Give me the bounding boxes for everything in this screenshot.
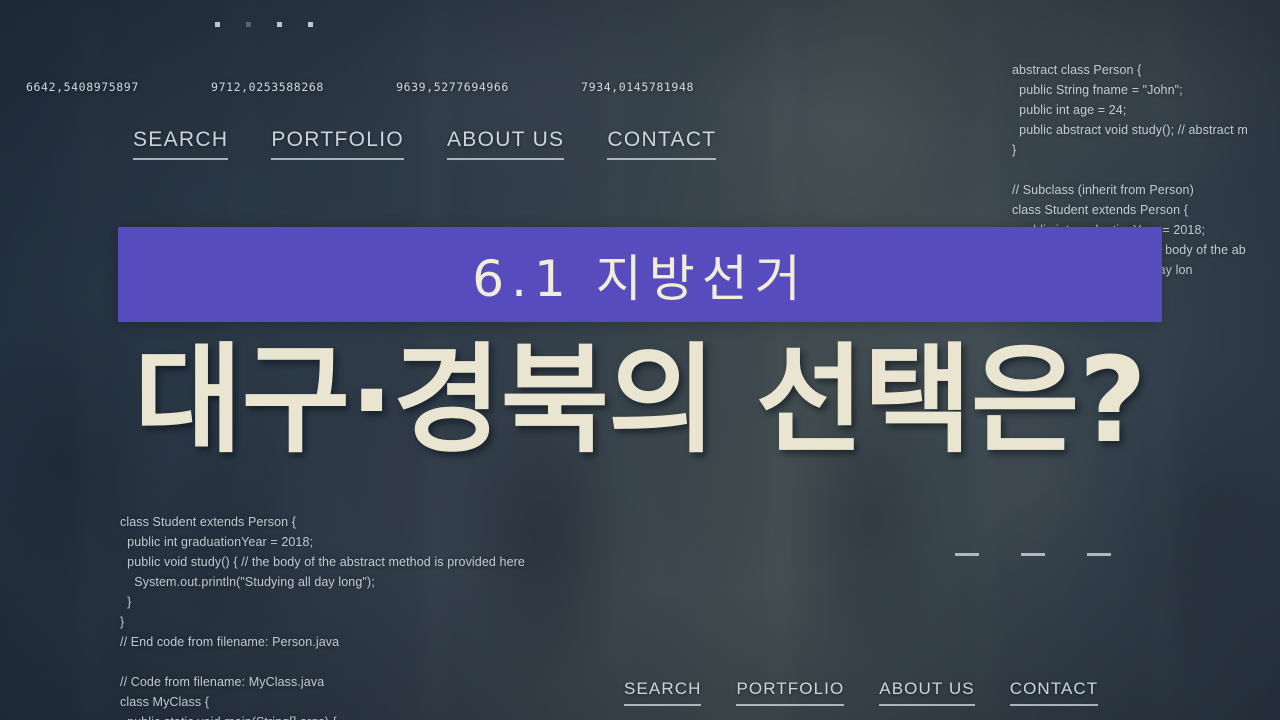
navigation-bar-top: SEARCH PORTFOLIO ABOUT US CONTACT bbox=[133, 128, 716, 160]
dot-indicator bbox=[215, 22, 220, 27]
ticker-value: 9712,0253588268 bbox=[211, 80, 324, 94]
navigation-bar-bottom: SEARCH PORTFOLIO ABOUT US CONTACT bbox=[624, 679, 1098, 706]
dash-marker bbox=[1087, 553, 1111, 556]
nav-item-contact[interactable]: CONTACT bbox=[1010, 679, 1099, 706]
numeric-ticker-row: 6642,5408975897 9712,0253588268 9639,527… bbox=[0, 80, 720, 94]
dash-marker bbox=[1021, 553, 1045, 556]
title-banner: 6.1 지방선거 bbox=[118, 227, 1162, 322]
nav-item-about-us[interactable]: ABOUT US bbox=[879, 679, 974, 706]
nav-item-search[interactable]: SEARCH bbox=[133, 128, 228, 160]
ticker-value: 6642,5408975897 bbox=[26, 80, 139, 94]
nav-item-portfolio[interactable]: PORTFOLIO bbox=[736, 679, 844, 706]
decorative-dashes-row bbox=[955, 553, 1111, 556]
dot-indicator bbox=[246, 22, 251, 27]
nav-item-search[interactable]: SEARCH bbox=[624, 679, 701, 706]
code-overlay-bottom-left: class Student extends Person { public in… bbox=[120, 512, 525, 720]
ticker-value: 9639,5277694966 bbox=[396, 80, 509, 94]
ticker-value: 7934,0145781948 bbox=[581, 80, 694, 94]
main-headline: 대구·경북의 선택은? bbox=[0, 330, 1280, 470]
dash-marker bbox=[955, 553, 979, 556]
dot-indicator bbox=[277, 22, 282, 27]
decorative-dots-row bbox=[215, 22, 313, 27]
nav-item-contact[interactable]: CONTACT bbox=[607, 128, 716, 160]
nav-item-about-us[interactable]: ABOUT US bbox=[447, 128, 564, 160]
nav-item-portfolio[interactable]: PORTFOLIO bbox=[271, 128, 404, 160]
dot-indicator bbox=[308, 22, 313, 27]
banner-title-text: 6.1 지방선거 bbox=[472, 239, 807, 311]
slide-canvas: 6642,5408975897 9712,0253588268 9639,527… bbox=[0, 0, 1280, 720]
